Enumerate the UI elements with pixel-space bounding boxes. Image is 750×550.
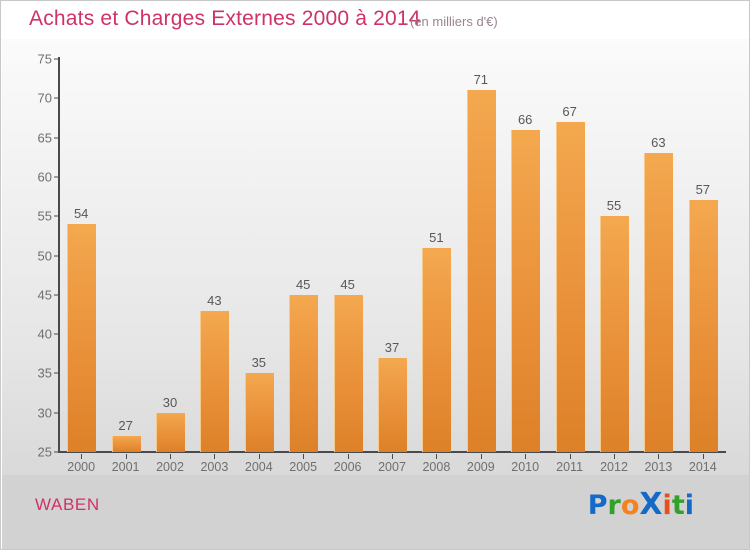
bar[interactable] <box>200 311 229 452</box>
x-tick-label: 2000 <box>57 460 105 474</box>
bar-value-label: 66 <box>505 112 545 127</box>
y-tick-label: 70 <box>38 91 52 106</box>
y-tick-label: 30 <box>38 405 52 420</box>
entity-name-label: WABEN <box>35 495 100 515</box>
logo-letter-0: P <box>588 490 608 521</box>
bar[interactable] <box>644 153 673 452</box>
x-tick-mark <box>81 454 82 459</box>
x-tick-label: 2004 <box>235 460 283 474</box>
bar-value-label: 43 <box>194 293 234 308</box>
x-tick-mark <box>570 454 571 459</box>
x-tick-mark <box>436 454 437 459</box>
page-title: Achats et Charges Externes 2000 à 2014 <box>29 7 421 31</box>
bar[interactable] <box>511 130 540 452</box>
bar-value-label: 37 <box>372 340 412 355</box>
x-tick-mark <box>259 454 260 459</box>
x-tick-mark <box>214 454 215 459</box>
bar[interactable] <box>334 295 363 452</box>
logo-letter-3: X <box>639 487 662 522</box>
x-tick-label: 2006 <box>324 460 372 474</box>
x-tick-mark <box>525 454 526 459</box>
bar-value-label: 67 <box>550 104 590 119</box>
bar[interactable] <box>422 248 451 452</box>
y-tick-label: 65 <box>38 130 52 145</box>
plot-area: 542730433545453751716667556357 <box>59 59 725 452</box>
x-tick-label: 2013 <box>634 460 682 474</box>
bar-value-label: 45 <box>328 277 368 292</box>
x-tick-label: 2001 <box>102 460 150 474</box>
x-tick-mark <box>658 454 659 459</box>
x-tick-label: 2003 <box>190 460 238 474</box>
x-tick-mark <box>348 454 349 459</box>
bar[interactable] <box>378 358 407 452</box>
y-tick-label: 60 <box>38 169 52 184</box>
bar-value-label: 55 <box>594 198 634 213</box>
logo-letter-5: t <box>672 490 685 521</box>
bar[interactable] <box>556 122 585 452</box>
bar-value-label: 71 <box>461 72 501 87</box>
x-tick-mark <box>126 454 127 459</box>
bar-value-label: 63 <box>638 135 678 150</box>
logo-letter-6: i <box>685 490 694 521</box>
chart-units-subtitle: (en milliers d'€) <box>410 14 498 29</box>
x-tick-mark <box>614 454 615 459</box>
bar[interactable] <box>112 436 141 452</box>
y-tick-label: 45 <box>38 287 52 302</box>
proxiti-logo[interactable]: ProXiti <box>588 487 694 522</box>
x-tick-mark <box>170 454 171 459</box>
bar[interactable] <box>689 200 718 452</box>
y-tick-label: 25 <box>38 445 52 460</box>
bar-value-label: 35 <box>239 355 279 370</box>
x-tick-label: 2002 <box>146 460 194 474</box>
bar-value-label: 45 <box>283 277 323 292</box>
bar[interactable] <box>467 90 496 452</box>
x-tick-label: 2008 <box>412 460 460 474</box>
x-tick-label: 2014 <box>679 460 727 474</box>
x-tick-label: 2011 <box>546 460 594 474</box>
y-tick-label: 55 <box>38 209 52 224</box>
y-tick-label: 75 <box>38 52 52 67</box>
y-tick-label: 35 <box>38 366 52 381</box>
x-tick-mark <box>392 454 393 459</box>
bar[interactable] <box>156 413 185 452</box>
chart-page: Achats et Charges Externes 2000 à 2014 (… <box>0 0 750 550</box>
x-tick-label: 2007 <box>368 460 416 474</box>
logo-letter-2: o <box>621 490 640 521</box>
x-tick-label: 2010 <box>501 460 549 474</box>
x-tick-label: 2012 <box>590 460 638 474</box>
bar-value-label: 51 <box>416 230 456 245</box>
x-tick-mark <box>703 454 704 459</box>
footer-bar: WABEN ProXiti <box>2 475 750 550</box>
bar-value-label: 54 <box>61 206 101 221</box>
x-tick-mark <box>303 454 304 459</box>
x-tick-label: 2005 <box>279 460 327 474</box>
chart-header: Achats et Charges Externes 2000 à 2014 (… <box>1 1 750 39</box>
y-tick-label: 40 <box>38 327 52 342</box>
bar-value-label: 30 <box>150 395 190 410</box>
plot-frame: 2530354045505560657075 54273043354545375… <box>2 39 750 475</box>
logo-letter-4: i <box>663 490 672 521</box>
bar[interactable] <box>600 216 629 452</box>
bar-value-label: 57 <box>683 182 723 197</box>
logo-letter-1: r <box>608 490 621 521</box>
bar-value-label: 27 <box>106 418 146 433</box>
bar[interactable] <box>289 295 318 452</box>
y-tick-label: 50 <box>38 248 52 263</box>
x-tick-mark <box>481 454 482 459</box>
bar[interactable] <box>245 373 274 452</box>
x-tick-label: 2009 <box>457 460 505 474</box>
bar[interactable] <box>67 224 96 452</box>
